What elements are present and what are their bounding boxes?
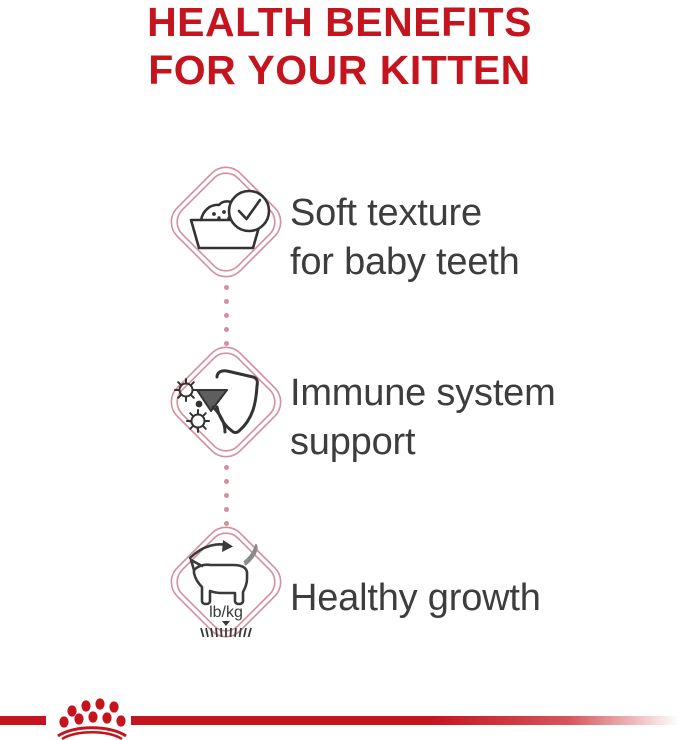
benefit-label-cell: Immune system support	[290, 369, 679, 467]
connector-dot	[224, 285, 229, 290]
connector-dots-2	[223, 465, 229, 527]
benefit-item-healthy-growth: lb/kg	[0, 508, 679, 688]
connector-dot	[224, 465, 229, 470]
benefit-label-cell: Healthy growth	[290, 574, 679, 623]
benefit-icon-cell	[0, 148, 290, 328]
shield-germs-icon	[161, 337, 291, 467]
connector-dot	[224, 507, 229, 512]
benefit-icon-cell	[0, 328, 290, 508]
footer-brand-bar	[0, 678, 679, 740]
cat-growth-scale-icon: lb/kg	[161, 517, 291, 647]
connector-dot	[224, 341, 229, 346]
page-title-line-1: HEALTH BENEFITS	[0, 0, 679, 46]
connector-dot	[224, 493, 229, 498]
icon-unit-label: lb/kg	[209, 604, 243, 621]
benefit-label-line-1: Immune system	[290, 369, 659, 418]
benefit-label-line-2: support	[290, 418, 659, 467]
connector-dot	[224, 479, 229, 484]
benefit-label-cell: Soft texture for baby teeth	[290, 189, 679, 287]
food-bowl-check-icon	[161, 157, 291, 287]
connector-dots-1	[223, 285, 229, 347]
connector-dot	[224, 521, 229, 526]
benefit-item-immune-system: Immune system support	[0, 328, 679, 508]
connector-dot	[224, 299, 229, 304]
royal-canin-crown-logo	[0, 678, 679, 740]
page-title-line-2: FOR YOUR KITTEN	[0, 46, 679, 94]
benefit-icon-cell: lb/kg	[0, 508, 290, 688]
benefit-label-line-1: Soft texture	[290, 189, 659, 238]
benefit-item-soft-texture: Soft texture for baby teeth	[0, 148, 679, 328]
benefit-label-line-1: Healthy growth	[290, 574, 659, 623]
connector-dot	[224, 313, 229, 318]
benefit-label-line-2: for baby teeth	[290, 238, 659, 287]
page-title: HEALTH BENEFITS FOR YOUR KITTEN	[0, 0, 679, 94]
benefits-list: Soft texture for baby teeth	[0, 148, 679, 688]
connector-dot	[224, 327, 229, 332]
